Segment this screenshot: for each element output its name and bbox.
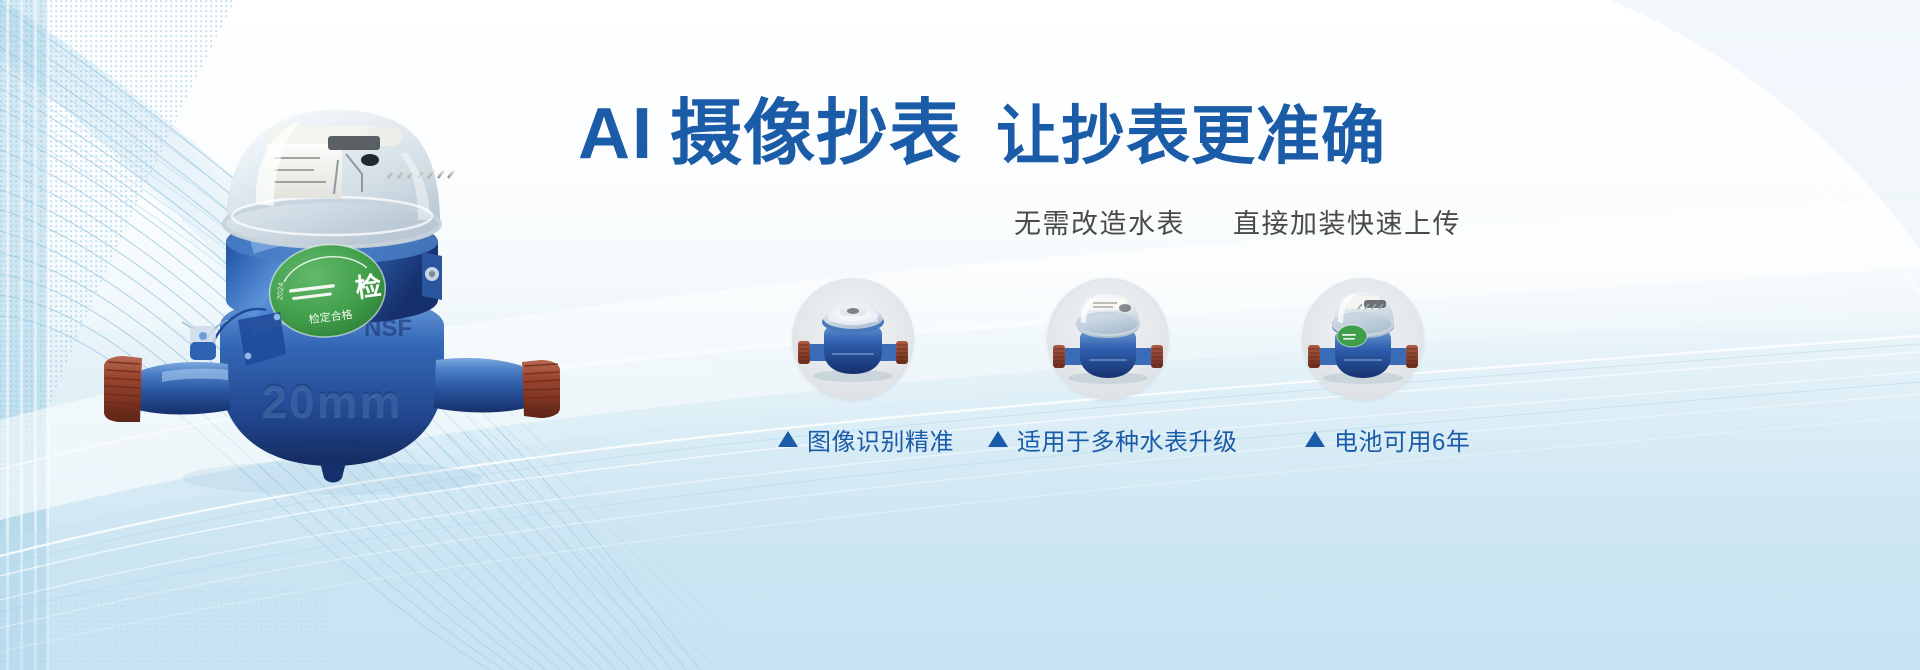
caption-label-3: 电池可用6年 — [1334, 422, 1470, 457]
promo-banner: 20mm 20mm NSF — [0, 0, 1920, 670]
svg-text:检: 检 — [354, 270, 383, 303]
triangle-marker-icon — [778, 431, 798, 447]
subtitle: 无需改造水表 直接加装快速上传 — [1014, 202, 1461, 241]
thumbnail-water-meter-top-view[interactable] — [792, 278, 914, 400]
svg-text:2024: 2024 — [275, 282, 286, 301]
headline-ai: AI — [578, 98, 654, 170]
triangle-marker-icon — [1305, 431, 1325, 447]
caption-label-2: 适用于多种水表升级 — [1017, 422, 1238, 457]
caption-row: 图像识别精准 适用于多种水表升级 电池可用6年 — [770, 422, 1500, 462]
svg-text:20mm: 20mm — [262, 376, 403, 428]
headline-part2: 让抄表更准确 — [996, 104, 1386, 168]
caption-item-2: 适用于多种水表升级 — [988, 422, 1238, 457]
headline: AI 摄像抄表 让抄表更准确 — [578, 98, 1478, 184]
thumbnail-water-meter-clear-cover[interactable] — [1047, 278, 1169, 400]
headline-part1: 摄像抄表 — [670, 98, 962, 170]
caption-item-1: 图像识别精准 — [778, 422, 954, 457]
product-hero-image: 20mm 20mm NSF — [70, 74, 590, 504]
caption-label-1: 图像识别精准 — [807, 422, 954, 457]
triangle-marker-icon — [988, 431, 1008, 447]
caption-item-3: 电池可用6年 — [1305, 422, 1470, 457]
thumbnail-water-meter-with-module[interactable] — [1302, 278, 1424, 400]
subtitle-right: 直接加装快速上传 — [1233, 209, 1461, 239]
subtitle-left: 无需改造水表 — [1014, 209, 1185, 239]
